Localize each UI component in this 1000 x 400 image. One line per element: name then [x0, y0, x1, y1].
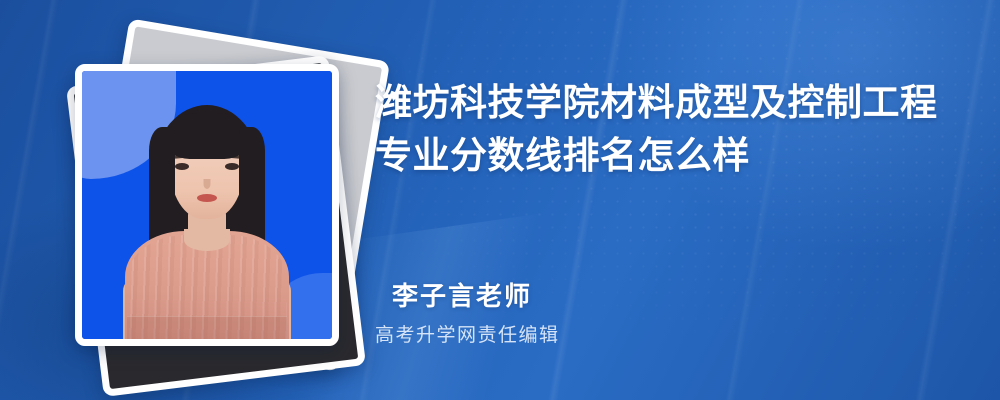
article-title-line-1: 潍坊科技学院材料成型及控制工程: [375, 76, 965, 129]
portrait-lips: [197, 194, 217, 202]
article-title-line-2: 专业分数线排名怎么样: [375, 129, 965, 182]
article-title: 潍坊科技学院材料成型及控制工程 专业分数线排名怎么样: [375, 76, 965, 182]
article-author-banner: 潍坊科技学院材料成型及控制工程 专业分数线排名怎么样 李子言老师 高考升学网责任…: [0, 0, 1000, 400]
portrait-hair-fringe: [164, 113, 250, 159]
author-name: 李子言老师: [392, 276, 532, 313]
banner-text-block: 潍坊科技学院材料成型及控制工程 专业分数线排名怎么样 李子言老师 高考升学网责任…: [375, 0, 975, 400]
portrait-figure: [117, 99, 297, 339]
photo-card-stack: [40, 36, 370, 366]
author-photo-card: [75, 64, 339, 346]
author-role: 高考升学网责任编辑: [375, 320, 560, 347]
portrait-eye-right: [225, 163, 239, 170]
portrait-garment-waistband: [127, 316, 287, 339]
portrait-nose: [204, 179, 211, 189]
author-photo: [82, 71, 332, 339]
portrait-collar: [184, 229, 230, 251]
portrait-eye-left: [175, 163, 189, 170]
